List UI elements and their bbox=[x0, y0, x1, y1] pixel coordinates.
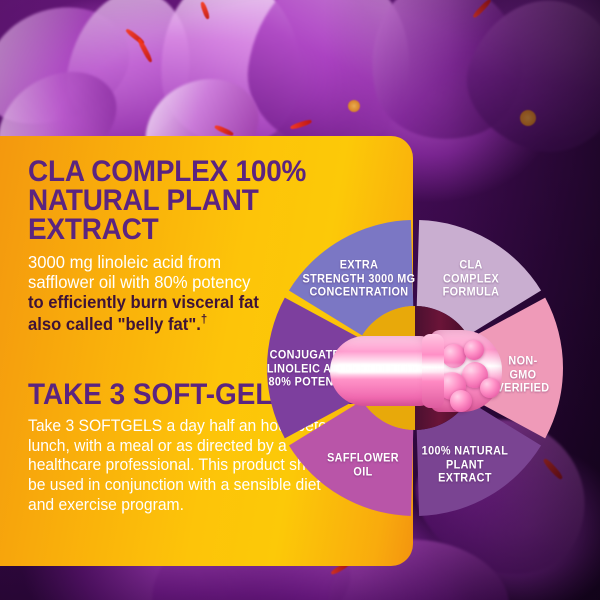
wheel-label-natural-extract: 100% NATURAL PLANT EXTRACT bbox=[418, 446, 512, 487]
dagger-symbol: † bbox=[201, 312, 207, 326]
wheel-label-non-gmo: NON-GMO VERIFIED bbox=[497, 356, 550, 397]
product-description: 3000 mg linoleic acid from safflower oil… bbox=[28, 253, 267, 335]
capsule-bead bbox=[464, 340, 484, 360]
wheel-label-extra-strength: EXTRA STRENGTH 3000 MG CONCENTRATION bbox=[303, 260, 416, 301]
capsule-highlight bbox=[336, 364, 486, 373]
wheel-label-cla-formula: CLA COMPLEX FORMULA bbox=[443, 260, 500, 301]
description-light-text: 3000 mg linoleic acid from safflower oil… bbox=[28, 252, 250, 292]
capsule-bead bbox=[480, 378, 500, 398]
capsule-bead bbox=[450, 390, 472, 412]
pink-capsule-icon bbox=[330, 328, 500, 414]
infographic-canvas: CLA COMPLEX 100% NATURAL PLANT EXTRACT 3… bbox=[0, 0, 600, 600]
description-bold-text: to efficiently burn visceral fat also ca… bbox=[28, 292, 259, 334]
wheel-label-safflower-oil: SAFFLOWER OIL bbox=[327, 452, 399, 479]
